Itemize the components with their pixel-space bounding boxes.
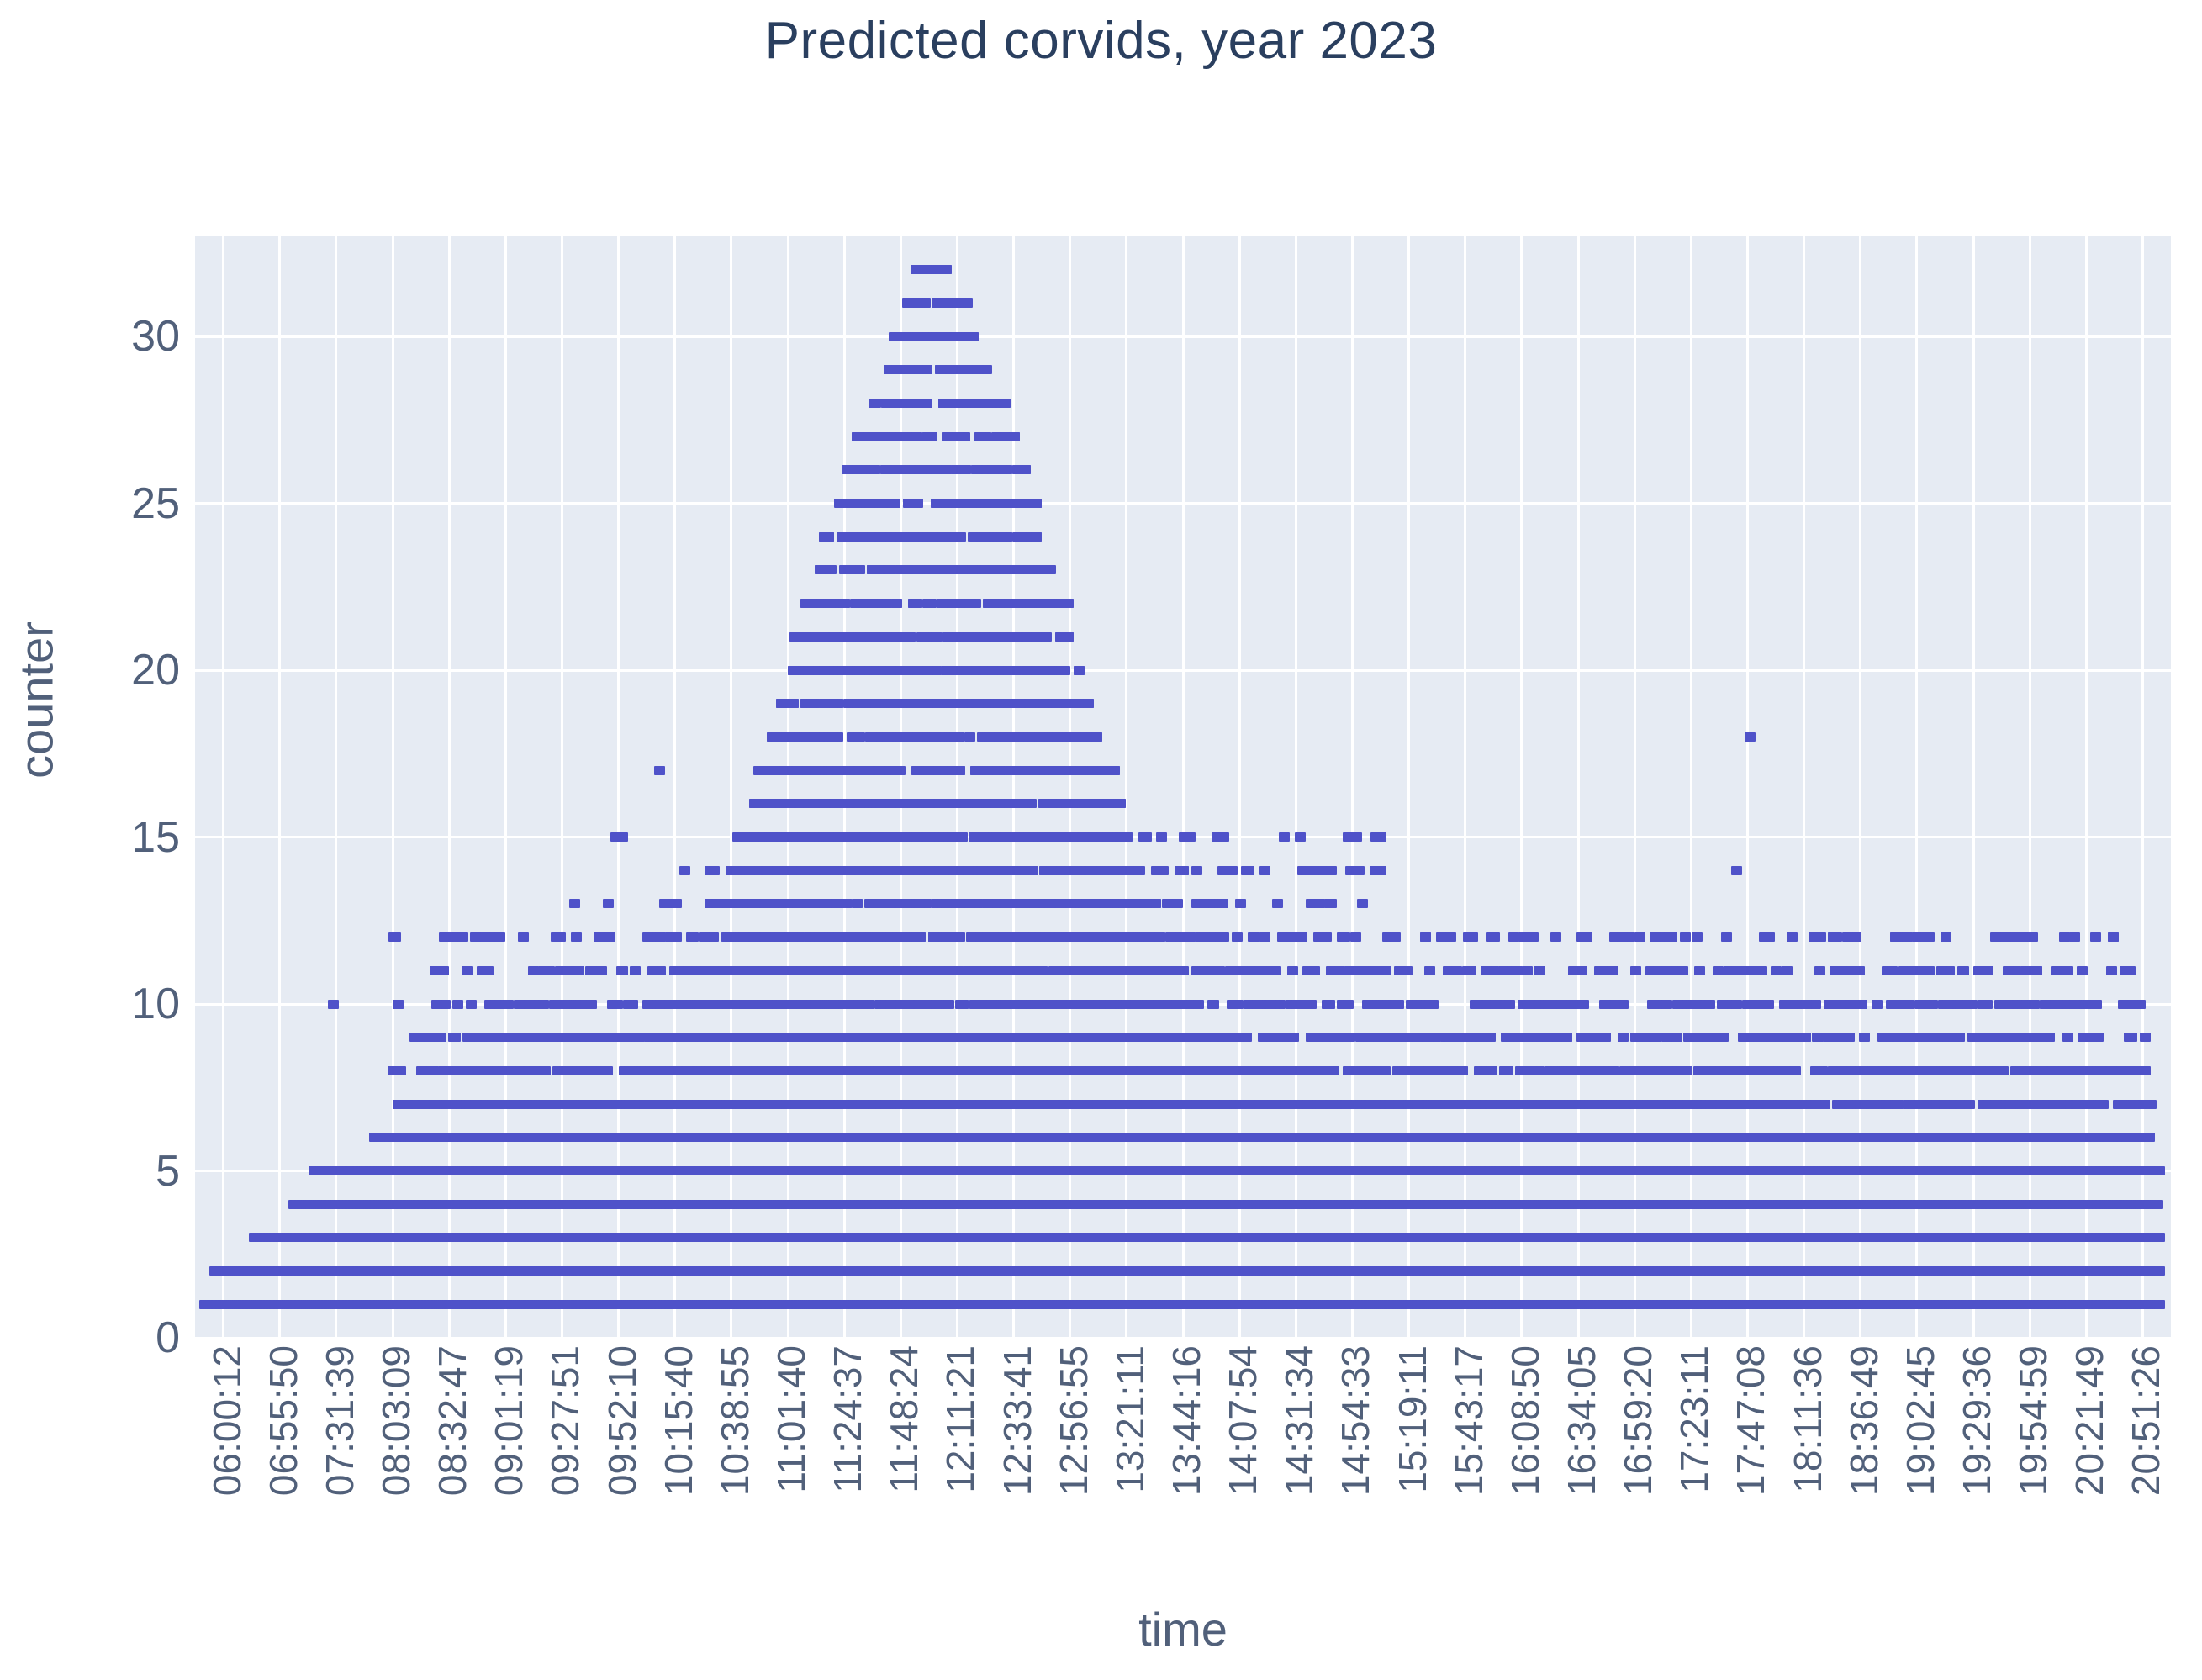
y-axis-tick-label: 25	[131, 478, 180, 529]
gridline-vertical	[278, 236, 281, 1338]
y-axis-tick-label: 5	[156, 1146, 180, 1197]
y-axis-tick-label: 15	[131, 812, 180, 863]
y-axis-tick-label: 30	[131, 311, 180, 362]
scatter-point	[2154, 1233, 2165, 1242]
chart-figure: Predicted corvids, year 2023 counter 051…	[0, 0, 2202, 1680]
y-axis-tick-labels: 051015202530	[0, 236, 180, 1338]
chart-title: Predicted corvids, year 2023	[0, 0, 2202, 82]
y-axis-tick-label: 0	[156, 1313, 180, 1363]
y-axis-tick-label: 20	[131, 645, 180, 695]
y-axis-tick-label: 10	[131, 979, 180, 1029]
gridline-vertical	[222, 236, 224, 1338]
plot-area[interactable]	[195, 236, 2171, 1338]
scatter-point	[2154, 1266, 2165, 1276]
scatter-point	[2154, 1300, 2165, 1309]
